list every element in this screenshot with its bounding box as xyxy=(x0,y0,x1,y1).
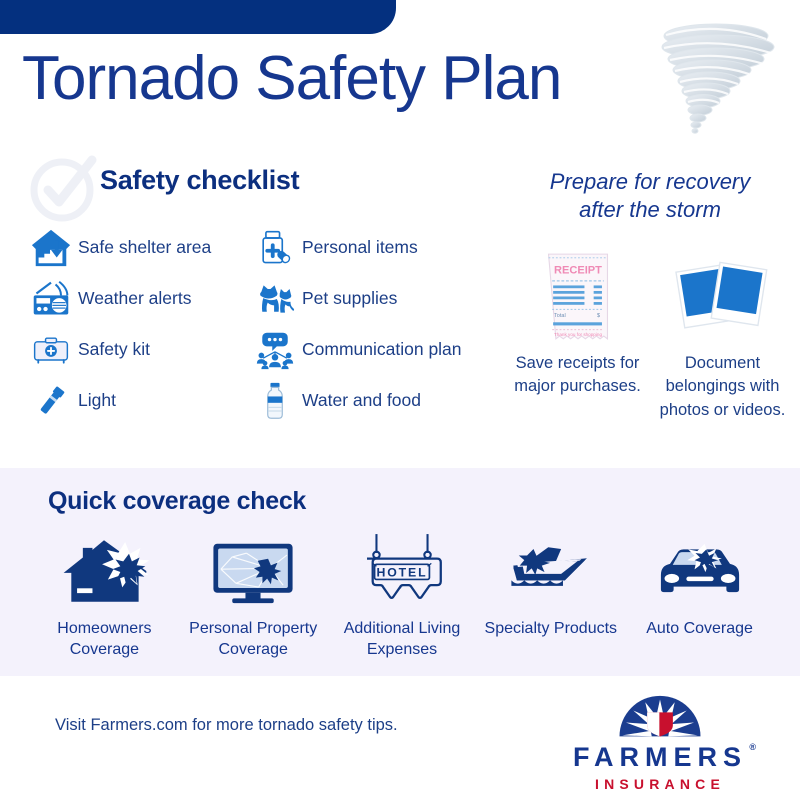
list-item-label: Safe shelter area xyxy=(78,237,211,258)
coverage-item-label: Auto Coverage xyxy=(625,618,774,639)
coverage-items: Homeowners Coverage Pe xyxy=(30,528,774,661)
coverage-item-label: Personal Property Coverage xyxy=(179,618,328,661)
receipt-icon: RECEIPT Total $ Thank you for shopping xyxy=(505,240,650,352)
checklist-column-left: Safe shelter area Weather al xyxy=(24,222,264,426)
car-icon xyxy=(625,528,774,608)
list-item[interactable]: Water and food xyxy=(248,375,498,426)
logo-wordmark: FARMERS® xyxy=(573,742,747,773)
list-item[interactable]: Safety kit xyxy=(24,324,264,375)
recovery-item-documents[interactable]: Document belongings with photos or video… xyxy=(650,240,795,422)
footer-text: Visit Farmers.com for more tornado safet… xyxy=(55,716,398,735)
flashlight-icon xyxy=(24,378,78,424)
recovery-items: RECEIPT Total $ Thank you for shopping xyxy=(505,240,795,422)
list-item[interactable]: Pet supplies xyxy=(248,273,498,324)
receipt-footer-text: Thank you for shopping xyxy=(553,332,601,337)
shelter-house-icon xyxy=(24,225,78,271)
receipt-label: RECEIPT xyxy=(554,264,602,276)
coverage-heading: Quick coverage check xyxy=(48,487,306,516)
list-item[interactable]: Communication plan xyxy=(248,324,498,375)
people-network-icon xyxy=(248,327,302,373)
recovery-heading: Prepare for recovery after the storm xyxy=(505,168,795,224)
coverage-item-label: Additional Living Expenses xyxy=(328,618,477,661)
first-aid-kit-icon xyxy=(24,327,78,373)
list-item-label: Communication plan xyxy=(302,339,462,360)
hotel-sign-text: HOTEL xyxy=(376,566,427,580)
damaged-house-icon xyxy=(30,528,179,608)
tornado-icon xyxy=(640,16,790,141)
recovery-heading-line1: Prepare for recovery xyxy=(505,168,795,196)
checkmark-circle-watermark xyxy=(28,152,100,224)
infographic-page: Tornado Safety Plan xyxy=(0,0,800,800)
dog-cat-icon xyxy=(248,276,302,322)
radio-icon xyxy=(24,276,78,322)
list-item-label: Safety kit xyxy=(78,339,150,360)
recovery-item-caption: Save receipts for major purchases. xyxy=(505,352,650,399)
logo-wordmark-text: FARMERS xyxy=(573,742,747,772)
farmers-sunburst-shield-logo xyxy=(560,694,760,740)
list-item[interactable]: Personal items xyxy=(248,222,498,273)
coverage-item-label: Homeowners Coverage xyxy=(30,618,179,661)
checklist-heading: Safety checklist xyxy=(100,165,299,196)
registered-trademark-icon: ® xyxy=(749,742,756,752)
coverage-item-personal-property[interactable]: Personal Property Coverage xyxy=(179,528,328,661)
hotel-sign-icon: HOTEL xyxy=(328,528,477,608)
list-item[interactable]: Weather alerts xyxy=(24,273,264,324)
page-title: Tornado Safety Plan xyxy=(22,48,561,110)
list-item-label: Light xyxy=(78,390,116,411)
receipt-total-label: Total xyxy=(554,312,566,318)
coverage-item-label: Specialty Products xyxy=(476,618,625,639)
list-item-label: Pet supplies xyxy=(302,288,397,309)
recovery-heading-line2: after the storm xyxy=(505,196,795,224)
list-item-label: Water and food xyxy=(302,390,421,411)
receipt-amount: $ xyxy=(597,312,600,318)
recovery-item-caption: Document belongings with photos or video… xyxy=(650,352,795,422)
list-item[interactable]: Safe shelter area xyxy=(24,222,264,273)
logo-subtitle: INSURANCE xyxy=(560,776,760,792)
photos-icon xyxy=(650,240,795,352)
coverage-item-additional-living[interactable]: HOTEL Additional Living Expenses xyxy=(328,528,477,661)
list-item[interactable]: Light xyxy=(24,375,264,426)
water-bottle-icon xyxy=(248,378,302,424)
cracked-monitor-icon xyxy=(179,528,328,608)
coverage-item-auto[interactable]: Auto Coverage xyxy=(625,528,774,639)
list-item-label: Weather alerts xyxy=(78,288,191,309)
recovery-item-receipts[interactable]: RECEIPT Total $ Thank you for shopping xyxy=(505,240,650,422)
header-accent-bar xyxy=(0,0,396,34)
boat-icon xyxy=(476,528,625,608)
checklist-column-right: Personal items Pet supplies xyxy=(248,222,498,426)
list-item-label: Personal items xyxy=(302,237,418,258)
farmers-insurance-logo[interactable]: FARMERS® INSURANCE xyxy=(560,694,760,792)
coverage-item-homeowners[interactable]: Homeowners Coverage xyxy=(30,528,179,661)
medicine-bottle-icon xyxy=(248,225,302,271)
coverage-item-specialty[interactable]: Specialty Products xyxy=(476,528,625,639)
